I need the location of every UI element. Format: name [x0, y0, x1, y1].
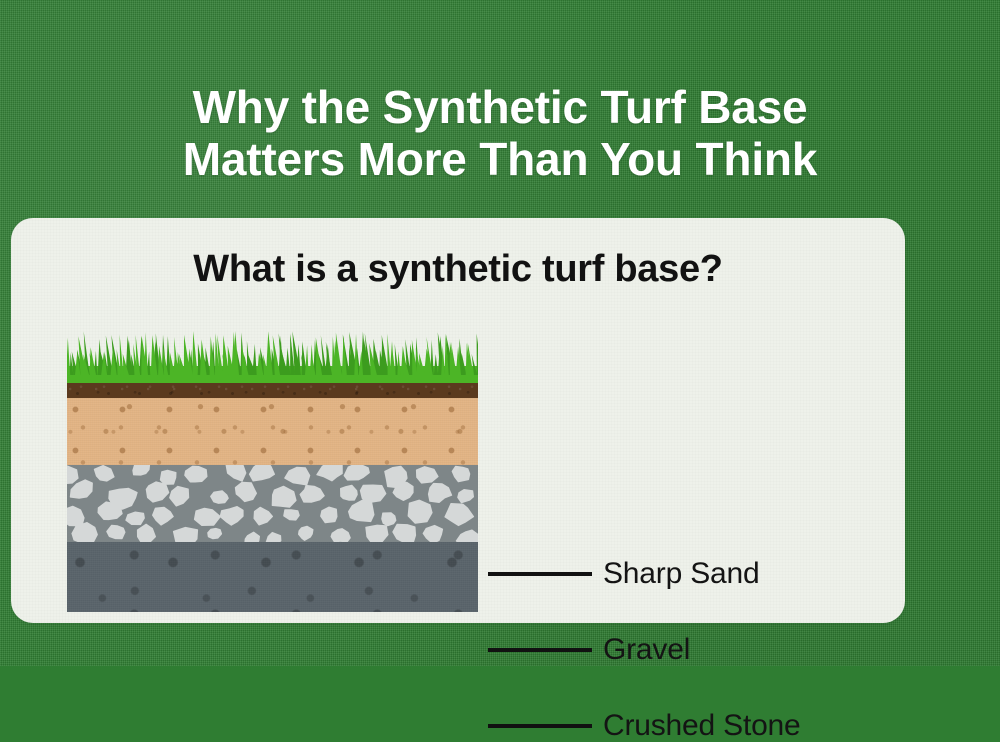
callout-sharp-sand: Sharp Sand: [488, 559, 759, 589]
callout-label-sharp-sand: Sharp Sand: [603, 559, 759, 589]
turf-base-cross-section-diagram: [67, 328, 478, 612]
leader-line-gravel: [488, 648, 592, 652]
page-title-line-1: Why the Synthetic Turf Base: [0, 81, 1000, 133]
info-card: What is a synthetic turf base? Sharp San…: [11, 218, 905, 623]
callout-label-gravel: Gravel: [603, 635, 690, 665]
page-title-line-2: Matters More Than You Think: [0, 133, 1000, 185]
callout-label-crushed-stone: Crushed Stone: [603, 711, 801, 741]
diagram-layer-crushed-stone: [67, 542, 478, 612]
diagram-layer-grass: [67, 328, 478, 383]
diagram-layer-soil: [67, 383, 478, 398]
diagram-layer-sharp-sand: [67, 398, 478, 465]
diagram-layer-gravel: [67, 465, 478, 542]
page-title: Why the Synthetic Turf Base Matters More…: [0, 81, 1000, 185]
callout-gravel: Gravel: [488, 635, 690, 665]
leader-line-crushed-stone: [488, 724, 592, 728]
callout-crushed-stone: Crushed Stone: [488, 711, 801, 741]
leader-line-sharp-sand: [488, 572, 592, 576]
card-heading: What is a synthetic turf base?: [11, 248, 905, 291]
